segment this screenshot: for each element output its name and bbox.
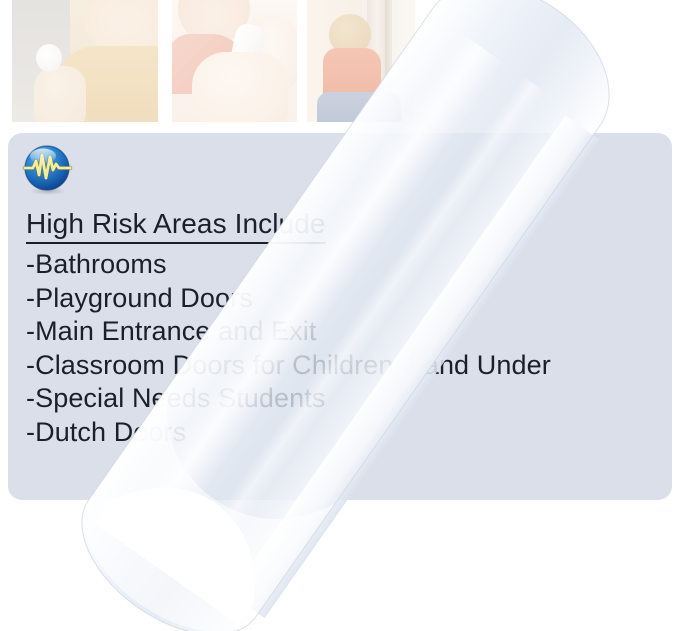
photo-child-holding-guard — [12, 0, 158, 122]
photo-2-lower-hand — [192, 52, 288, 122]
photo-1-content — [12, 0, 158, 122]
high-risk-areas-list: -Bathrooms -Playground Doors -Main Entra… — [26, 248, 662, 449]
list-item: -Classroom Doors for Children 4 and Unde… — [26, 349, 662, 383]
panel-text-block: High Risk Areas Include -Bathrooms -Play… — [26, 207, 662, 449]
list-item: -Dutch Doors — [26, 416, 662, 450]
photo-1-guard-object — [36, 44, 62, 72]
photo-3-toddler-jeans — [317, 92, 401, 122]
photo-1-child-hand — [34, 66, 86, 122]
product-infographic-page: High Risk Areas Include -Bathrooms -Play… — [0, 0, 679, 631]
photo-3-toddler-top — [323, 48, 381, 98]
list-item: -Main Entrance and Exit — [26, 315, 662, 349]
waveform-sphere-icon — [22, 144, 74, 196]
list-item: -Bathrooms — [26, 248, 662, 282]
list-item: -Special Needs Students — [26, 382, 662, 416]
usage-photo-strip — [0, 0, 679, 122]
photo-3-content — [307, 0, 415, 122]
high-risk-areas-panel: High Risk Areas Include -Bathrooms -Play… — [8, 133, 672, 500]
photo-toddler-at-door — [307, 0, 415, 122]
page-title: High Risk Areas Include — [26, 207, 326, 244]
photo-hands-installing-guard — [172, 0, 297, 122]
photo-2-content — [172, 0, 297, 122]
list-item: -Playground Doors — [26, 282, 662, 316]
